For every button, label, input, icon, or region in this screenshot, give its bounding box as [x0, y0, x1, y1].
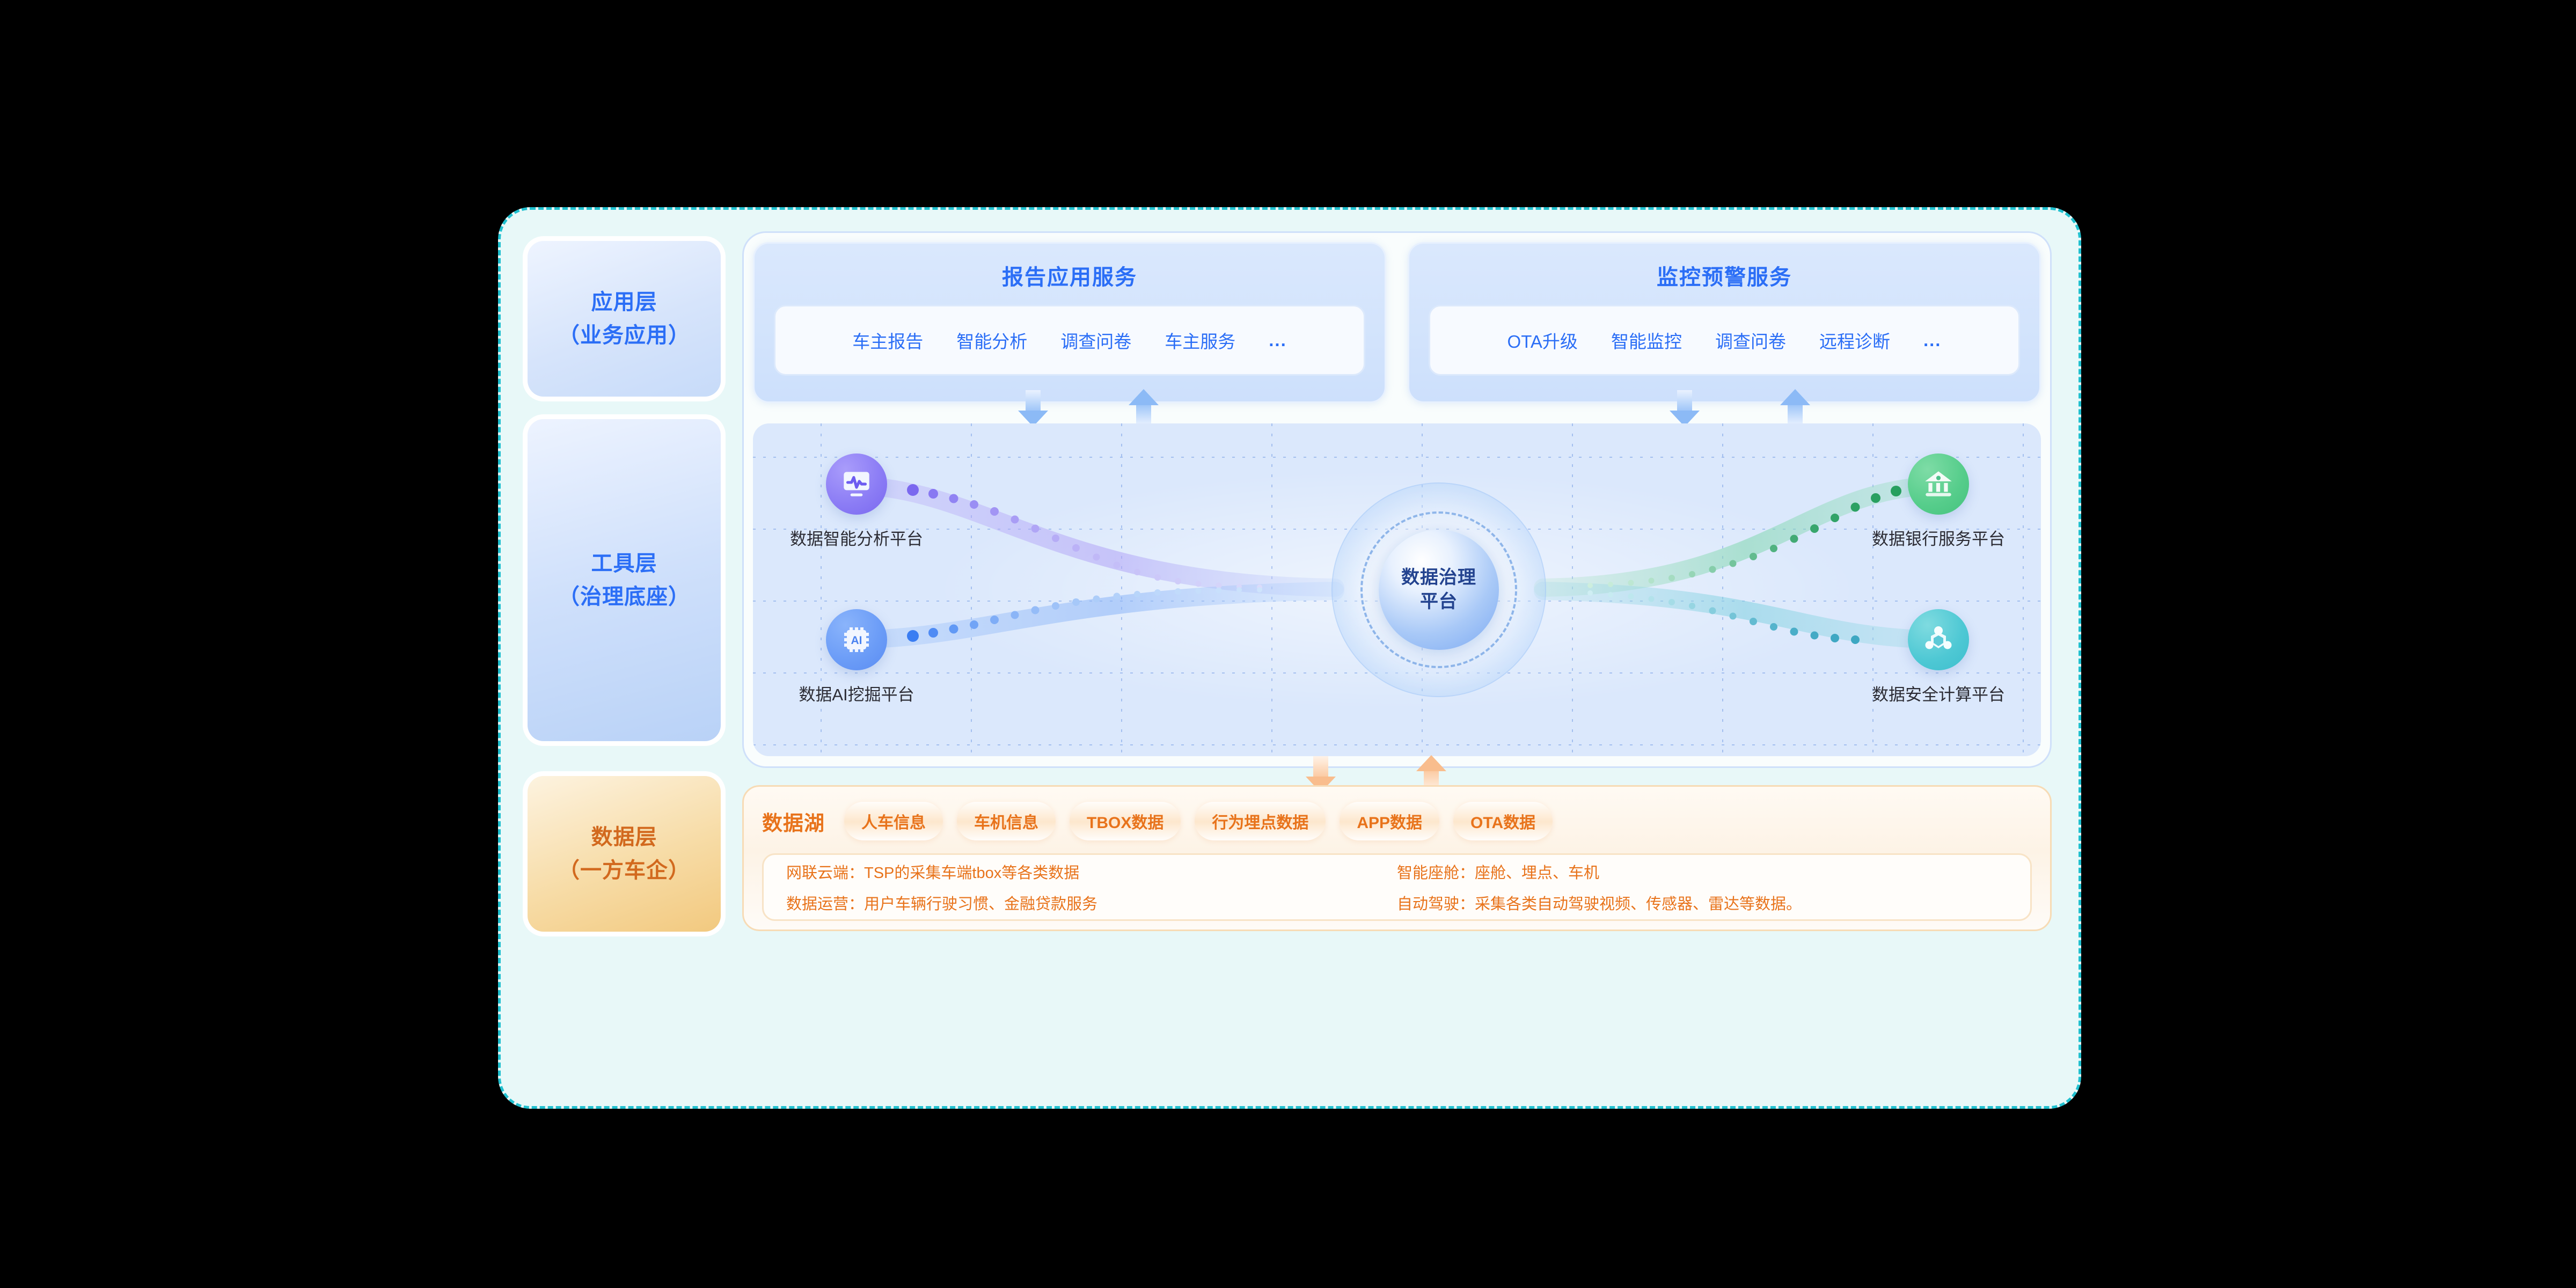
- platform-node-secure[interactable]: 数据安全计算平台: [1850, 609, 2027, 705]
- platform-node-bank[interactable]: 数据银行服务平台: [1850, 453, 2027, 550]
- application-service-cards: 报告应用服务 车主报告 智能分析 调查问卷 车主服务 ... 监控预警服务 OT…: [753, 242, 2041, 403]
- data-lake-tag-3[interactable]: 行为埋点数据: [1195, 802, 1326, 840]
- description-line-cockpit: 智能座舱：座舱、埋点、车机: [1397, 860, 2008, 883]
- data-lake-tag-4[interactable]: APP数据: [1340, 802, 1439, 840]
- layer-subtitle-application: （业务应用）: [558, 319, 690, 352]
- data-lake-tag-row: 数据湖 人车信息 车机信息 TBOX数据 行为埋点数据 APP数据 OTA数据: [762, 801, 2032, 841]
- service-card-title: 报告应用服务: [1002, 260, 1137, 291]
- description-line-cloud: 网联云端：TSP的采集车端tbox等各类数据: [786, 860, 1397, 883]
- layer-chip-application: 应用层 （业务应用）: [528, 241, 721, 397]
- data-lake-section: 数据湖 人车信息 车机信息 TBOX数据 行为埋点数据 APP数据 OTA数据 …: [742, 785, 2052, 931]
- data-lake-tag-1[interactable]: 车机信息: [957, 802, 1056, 840]
- platform-node-analysis[interactable]: 数据智能分析平台: [768, 453, 945, 550]
- service-item-2[interactable]: 调查问卷: [1060, 327, 1131, 353]
- hub-title-line1: 数据治理: [1401, 566, 1476, 590]
- platform-node-label: 数据智能分析平台: [768, 525, 945, 550]
- architecture-diagram-frame: 应用层 （业务应用） 工具层 （治理底座） 数据层 （一方车企） 报告应用服务 …: [498, 207, 2081, 1109]
- hub-title-line2: 平台: [1420, 590, 1458, 614]
- service-item-0[interactable]: 车主报告: [852, 327, 923, 353]
- service-item-3[interactable]: 远程诊断: [1819, 327, 1890, 353]
- svg-text:AI: AI: [851, 634, 862, 647]
- layer-chip-data: 数据层 （一方车企）: [528, 776, 721, 932]
- description-column-left: 网联云端：TSP的采集车端tbox等各类数据 数据运营：用户车辆行驶习惯、金融贷…: [786, 863, 1397, 911]
- bank-icon: [1908, 453, 1969, 515]
- service-item-list: 车主报告 智能分析 调查问卷 车主服务 ...: [774, 305, 1365, 376]
- data-lake-tag-2[interactable]: TBOX数据: [1070, 802, 1181, 840]
- layer-chip-tool: 工具层 （治理底座）: [528, 419, 721, 741]
- central-hub[interactable]: 数据治理 平台: [1331, 482, 1546, 697]
- layer-title-application: 应用层: [591, 286, 657, 319]
- arrow-up-tool-to-app-right: [1780, 390, 1810, 426]
- tool-layer-panel: 数据治理 平台 数据智能分析平台: [753, 423, 2041, 756]
- layer-title-data: 数据层: [591, 821, 657, 854]
- shield-network-icon: [1908, 609, 1969, 670]
- service-card-title: 监控预警服务: [1657, 260, 1792, 291]
- data-lake-title: 数据湖: [762, 807, 825, 836]
- data-lake-tag-0[interactable]: 人车信息: [844, 802, 943, 840]
- data-lake-description-box: 网联云端：TSP的采集车端tbox等各类数据 数据运营：用户车辆行驶习惯、金融贷…: [762, 853, 2032, 921]
- platform-node-ai[interactable]: AI 数据AI挖掘平台: [768, 609, 945, 705]
- platform-node-label: 数据银行服务平台: [1850, 525, 2027, 550]
- service-item-more[interactable]: ...: [1923, 330, 1942, 350]
- service-item-list: OTA升级 智能监控 调查问卷 远程诊断 ...: [1429, 305, 2020, 376]
- platform-node-label: 数据安全计算平台: [1850, 681, 2027, 705]
- arrow-down-app-to-tool-right: [1670, 390, 1700, 426]
- description-line-operation: 数据运营：用户车辆行驶习惯、金融贷款服务: [786, 891, 1397, 914]
- hub-core[interactable]: 数据治理 平台: [1379, 530, 1499, 650]
- description-column-right: 智能座舱：座舱、埋点、车机 自动驾驶：采集各类自动驾驶视频、传感器、雷达等数据。: [1397, 863, 2008, 911]
- service-item-0[interactable]: OTA升级: [1507, 327, 1578, 353]
- platform-node-label: 数据AI挖掘平台: [768, 681, 945, 705]
- layer-subtitle-data: （一方车企）: [558, 854, 690, 887]
- description-line-autodrive: 自动驾驶：采集各类自动驾驶视频、传感器、雷达等数据。: [1397, 891, 2008, 914]
- arrow-up-tool-to-app-left: [1129, 390, 1159, 426]
- data-lake-tag-5[interactable]: OTA数据: [1453, 802, 1553, 840]
- service-card-report[interactable]: 报告应用服务 车主报告 智能分析 调查问卷 车主服务 ...: [753, 242, 1386, 403]
- service-item-2[interactable]: 调查问卷: [1715, 327, 1786, 353]
- service-item-1[interactable]: 智能监控: [1611, 327, 1682, 353]
- service-card-monitor[interactable]: 监控预警服务 OTA升级 智能监控 调查问卷 远程诊断 ...: [1408, 242, 2041, 403]
- arrow-down-app-to-tool-left: [1018, 390, 1048, 426]
- ai-chip-icon: AI: [826, 609, 887, 670]
- service-item-3[interactable]: 车主服务: [1165, 327, 1235, 353]
- layer-title-tool: 工具层: [591, 547, 657, 580]
- service-item-more[interactable]: ...: [1269, 330, 1287, 350]
- service-item-1[interactable]: 智能分析: [956, 327, 1027, 353]
- layer-subtitle-tool: （治理底座）: [558, 580, 690, 613]
- monitor-pulse-icon: [826, 453, 887, 515]
